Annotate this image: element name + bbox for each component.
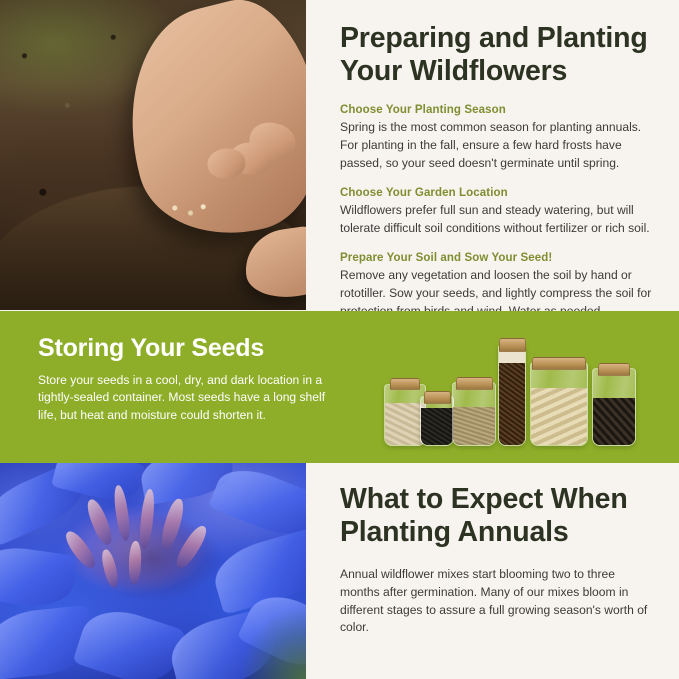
jar-contents <box>421 408 453 445</box>
expect-heading: What to Expect When Planting Annuals <box>340 483 655 549</box>
seed-jar <box>592 368 636 446</box>
hand-sowing-seeds-image <box>0 0 306 310</box>
finger-shape <box>206 147 247 181</box>
seeds-in-hand <box>165 198 214 223</box>
jar-contents <box>531 388 587 445</box>
preparing-text-column: Preparing and Planting Your Wildflowers … <box>306 0 679 310</box>
tip-subheading: Choose Your Garden Location <box>340 186 655 200</box>
tip-block-garden-location: Choose Your Garden Location Wildflowers … <box>340 186 655 238</box>
jar-cork <box>598 363 630 376</box>
jar-contents <box>499 361 525 445</box>
jar-cork <box>532 357 586 370</box>
jar-contents <box>593 398 635 445</box>
infographic-page: Preparing and Planting Your Wildflowers … <box>0 0 679 679</box>
tip-block-planting-season: Choose Your Planting Season Spring is th… <box>340 103 655 173</box>
tip-subheading: Prepare Your Soil and Sow Your Seed! <box>340 251 655 265</box>
tip-subheading: Choose Your Planting Season <box>340 103 655 117</box>
seed-jar <box>498 344 526 446</box>
jar-contents <box>453 407 495 445</box>
jar-contents <box>385 403 425 445</box>
section-what-to-expect: What to Expect When Planting Annuals Ann… <box>0 463 679 679</box>
tip-body: Wildflowers prefer full sun and steady w… <box>340 202 655 238</box>
green-foliage-edge <box>239 606 306 679</box>
tip-body: Spring is the most common season for pla… <box>340 119 655 172</box>
seed-jar <box>530 362 588 446</box>
seed-jar <box>452 382 496 446</box>
storing-body: Store your seeds in a cool, dry, and dar… <box>38 372 338 425</box>
expect-body: Annual wildflower mixes start blooming t… <box>340 566 655 637</box>
jar-cork <box>499 338 526 352</box>
page-title: Preparing and Planting Your Wildflowers <box>340 22 655 88</box>
jar-cork <box>456 377 493 390</box>
jar-cork <box>424 391 451 404</box>
expect-text-column: What to Expect When Planting Annuals Ann… <box>306 463 679 679</box>
storing-heading: Storing Your Seeds <box>38 335 338 363</box>
tip-block-prepare-soil: Prepare Your Soil and Sow Your Seed! Rem… <box>340 251 655 321</box>
section-preparing-and-planting: Preparing and Planting Your Wildflowers … <box>0 0 679 310</box>
blue-cornflower-image <box>0 463 306 679</box>
storing-text-column: Storing Your Seeds Store your seeds in a… <box>38 335 338 424</box>
jar-cork <box>390 378 420 390</box>
seed-jars-image <box>380 332 640 452</box>
